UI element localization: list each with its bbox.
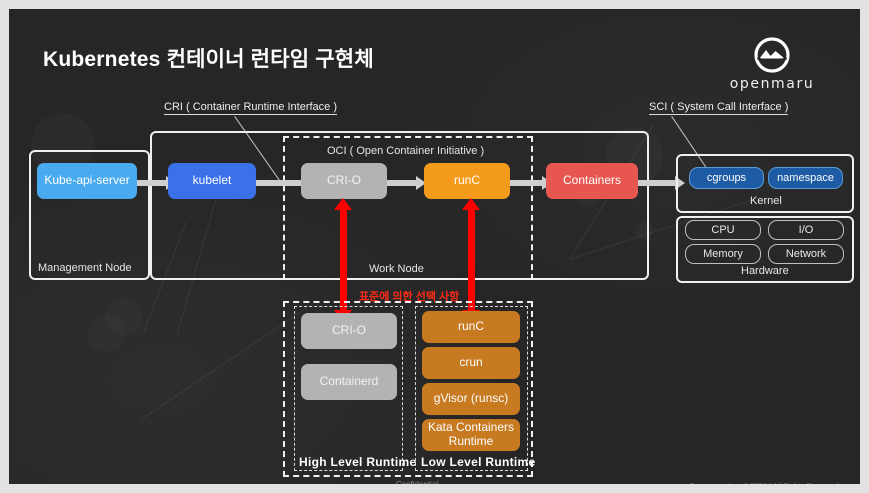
- node-option-crun-label: crun: [459, 356, 482, 370]
- page-title: Kubernetes 컨테이너 런타임 구현체: [43, 43, 374, 73]
- node-containers-label: Containers: [563, 174, 621, 188]
- node-option-containerd-label: Containerd: [320, 375, 379, 389]
- arrow-containers-to-kernel: [638, 180, 676, 186]
- node-option-crio-label: CRI-O: [332, 324, 366, 338]
- callout-sci: SCI ( System Call Interface ): [649, 101, 788, 115]
- node-runc-label: runC: [454, 174, 480, 188]
- confidential-footer: - Confidential -: [391, 480, 443, 484]
- node-option-containerd[interactable]: Containerd: [301, 364, 397, 400]
- slide-canvas: Kubernetes 컨테이너 런타임 구현체 openmaru CRI ( C…: [9, 9, 860, 484]
- node-network[interactable]: Network: [768, 244, 844, 264]
- brand-logo: openmaru: [716, 37, 828, 92]
- frame-oci: [283, 136, 533, 280]
- node-kube-api-server[interactable]: Kube-api-server: [37, 163, 137, 199]
- frame-low-level-runtime-label: Low Level Runtime: [421, 455, 535, 469]
- callout-cri: CRI ( Container Runtime Interface ): [164, 101, 337, 115]
- frame-management-node-label: Management Node: [38, 262, 132, 274]
- node-namespace[interactable]: namespace: [768, 167, 843, 189]
- background-circle-decoration: [105, 297, 143, 335]
- arrow-crio-to-runc: [384, 180, 417, 186]
- node-containers[interactable]: Containers: [546, 163, 638, 199]
- node-namespace-label: namespace: [777, 172, 834, 185]
- node-option-crio[interactable]: CRI-O: [301, 313, 397, 349]
- node-kubelet-label: kubelet: [193, 174, 232, 188]
- node-cgroups[interactable]: cgroups: [689, 167, 764, 189]
- frame-high-level-runtime-label: High Level Runtime: [299, 455, 416, 469]
- node-network-label: Network: [786, 248, 826, 261]
- slide-root: Kubernetes 컨테이너 런타임 구현체 openmaru CRI ( C…: [0, 0, 869, 493]
- node-memory[interactable]: Memory: [685, 244, 761, 264]
- node-memory-label: Memory: [703, 248, 743, 261]
- node-option-gvisor-label: gVisor (runsc): [434, 392, 508, 406]
- node-crio-label: CRI-O: [327, 174, 361, 188]
- node-io-label: I/O: [799, 224, 814, 237]
- frame-kernel-label: Kernel: [750, 195, 782, 207]
- copyright-footer: Openmaru, Inc. © 2021 | All Rights Reser…: [689, 481, 841, 484]
- arrow-runc-to-containers: [509, 180, 543, 186]
- openmaru-circle-mountain-logo: [754, 37, 790, 73]
- node-kubelet[interactable]: kubelet: [168, 163, 256, 199]
- brand-wordmark: openmaru: [716, 76, 828, 92]
- node-crio[interactable]: CRI-O: [301, 163, 387, 199]
- frame-hardware-label: Hardware: [741, 265, 789, 277]
- arrow-high-level-runtime-to-crio: [340, 209, 347, 291]
- node-cgroups-label: cgroups: [707, 172, 746, 185]
- node-option-crun[interactable]: crun: [422, 347, 520, 379]
- node-option-kata-containers[interactable]: Kata Containers Runtime: [422, 419, 520, 451]
- node-option-gvisor[interactable]: gVisor (runsc): [422, 383, 520, 415]
- node-option-runc[interactable]: runC: [422, 311, 520, 343]
- arrow-low-level-runtime-to-runc: [468, 209, 475, 291]
- frame-oci-label: OCI ( Open Container Initiative ): [327, 145, 484, 157]
- node-option-runc-label: runC: [458, 320, 484, 334]
- node-cpu[interactable]: CPU: [685, 220, 761, 240]
- arrow-kubelet-to-crio: [255, 180, 303, 186]
- node-option-kata-containers-label: Kata Containers Runtime: [426, 421, 516, 449]
- node-kube-api-server-label: Kube-api-server: [44, 174, 129, 188]
- node-io[interactable]: I/O: [768, 220, 844, 240]
- node-runc[interactable]: runC: [424, 163, 510, 199]
- arrow-apiserver-to-kubelet: [135, 180, 167, 186]
- node-cpu-label: CPU: [711, 224, 734, 237]
